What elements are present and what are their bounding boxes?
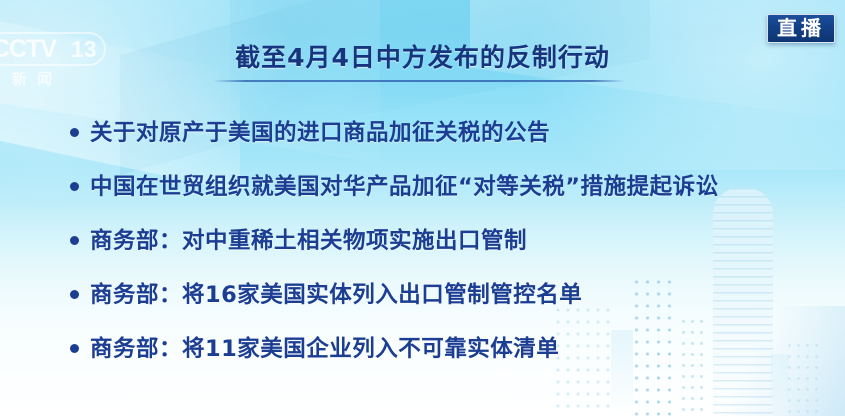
live-badge: 直播 [767, 14, 835, 43]
list-item: 商务部：将16家美国实体列入出口管制管控名单 [70, 266, 825, 320]
page-title: 截至4月4日中方发布的反制行动 [235, 44, 610, 78]
list-item-label: 商务部：将16家美国实体列入出口管制管控名单 [90, 277, 582, 309]
bullet-dot-icon [70, 290, 79, 299]
bullet-dot-icon [70, 128, 79, 137]
list-item: 中国在世贸组织就美国对华产品加征“对等关税”措施提起诉讼 [70, 158, 825, 212]
broadcast-graphic-screen: CCTV 13 新闻 直播 截至4月4日中方发布的反制行动 关于对原产于美国的进… [0, 0, 845, 416]
page-title-wrapper: 截至4月4日中方发布的反制行动 [0, 44, 845, 78]
title-underline-rule [213, 80, 625, 82]
bullet-dot-icon [70, 344, 79, 353]
list-item-label: 商务部：对中重稀土相关物项实施出口管制 [90, 223, 527, 255]
bullet-dot-icon [70, 182, 79, 191]
list-item-label: 关于对原产于美国的进口商品加征关税的公告 [90, 115, 550, 147]
list-item: 商务部：将11家美国企业列入不可靠实体清单 [70, 320, 825, 374]
bullet-dot-icon [70, 236, 79, 245]
list-item: 商务部：对中重稀土相关物项实施出口管制 [70, 212, 825, 266]
action-list: 关于对原产于美国的进口商品加征关税的公告 中国在世贸组织就美国对华产品加征“对等… [70, 104, 825, 374]
list-item: 关于对原产于美国的进口商品加征关税的公告 [70, 104, 825, 158]
list-item-label: 商务部：将11家美国企业列入不可靠实体清单 [90, 331, 559, 363]
list-item-label: 中国在世贸组织就美国对华产品加征“对等关税”措施提起诉讼 [90, 169, 719, 201]
